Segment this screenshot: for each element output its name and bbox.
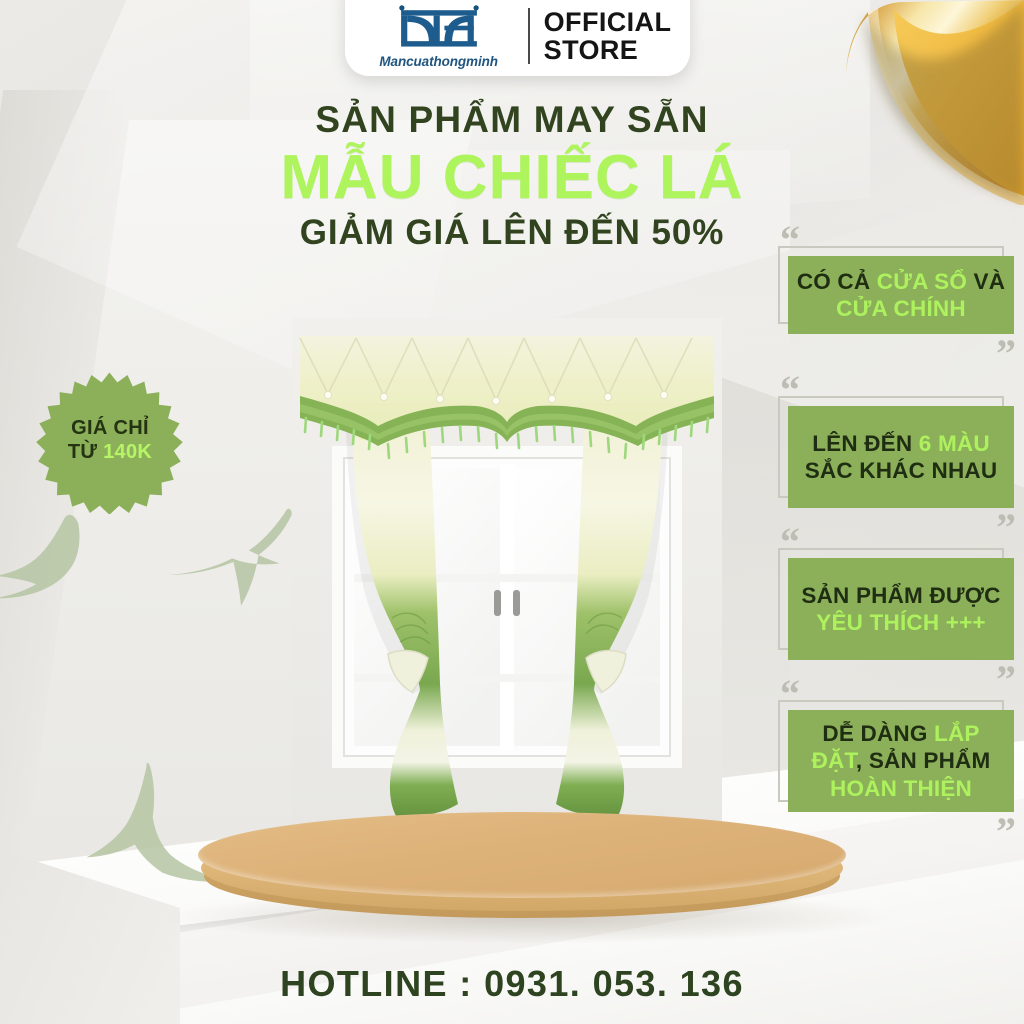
header-divider — [528, 8, 530, 64]
headline-main: MẪU CHIẾC LÁ — [0, 143, 1024, 212]
headline-group: SẢN PHẨM MAY SẴN MẪU CHIẾC LÁ GIẢM GIÁ L… — [0, 100, 1024, 253]
headline-top: SẢN PHẨM MAY SẴN — [0, 100, 1024, 141]
price-badge-line1: GIÁ CHỈ — [71, 416, 149, 440]
feature-text: CÓ CẢ CỬA SỔ VÀ CỬA CHÍNH — [794, 268, 1008, 323]
feature-fill: CÓ CẢ CỬA SỔ VÀ CỬA CHÍNH — [788, 256, 1014, 334]
feature-fill: DỄ DÀNG LẮP ĐẶT, SẢN PHẨM HOÀN THIỆN — [788, 710, 1014, 812]
feature-box-colors[interactable]: “ LÊN ĐẾN 6 MÀU SẮC KHÁC NHAU ” — [778, 396, 1014, 508]
feature-box-doors-windows[interactable]: “ CÓ CẢ CỬA SỔ VÀ CỬA CHÍNH ” — [778, 246, 1014, 334]
official-store-label: OFFICIAL STORE — [544, 8, 672, 65]
official-line: OFFICIAL — [544, 8, 672, 36]
official-store-header: Mancuathongminh OFFICIAL STORE — [345, 0, 690, 76]
quote-close-icon: ” — [996, 812, 1016, 852]
store-line: STORE — [544, 36, 672, 64]
brand-logo: Mancuathongminh — [364, 4, 514, 69]
price-badge: GIÁ CHỈ TỪ 140K — [36, 366, 184, 514]
feature-box-easy-install[interactable]: “ DỄ DÀNG LẮP ĐẶT, SẢN PHẨM HOÀN THIỆN ” — [778, 700, 1014, 812]
feature-text: DỄ DÀNG LẮP ĐẶT, SẢN PHẨM HOÀN THIỆN — [794, 720, 1008, 802]
bird-silhouette-icon — [0, 500, 154, 631]
quote-close-icon: ” — [996, 508, 1016, 548]
gold-podium — [198, 812, 848, 932]
feature-text: LÊN ĐẾN 6 MÀU SẮC KHÁC NHAU — [794, 430, 1008, 485]
price-badge-text: GIÁ CHỈ TỪ 140K — [36, 366, 184, 514]
feature-fill: LÊN ĐẾN 6 MÀU SẮC KHÁC NHAU — [788, 406, 1014, 508]
price-badge-line2: TỪ 140K — [68, 440, 152, 464]
price-badge-amount: 140K — [103, 441, 152, 463]
feature-box-loved[interactable]: “ SẢN PHẨM ĐƯỢC YÊU THÍCH +++ ” — [778, 548, 1014, 660]
quote-close-icon: ” — [996, 660, 1016, 700]
price-badge-prefix: TỪ — [68, 441, 103, 463]
curtain-product-photo — [292, 318, 722, 828]
brand-wordmark: Mancuathongminh — [379, 54, 498, 69]
feature-text: SẢN PHẨM ĐƯỢC YÊU THÍCH +++ — [794, 582, 1008, 637]
dh-monogram-logo-icon — [381, 4, 497, 52]
feature-fill: SẢN PHẨM ĐƯỢC YÊU THÍCH +++ — [788, 558, 1014, 660]
podium-top-surface — [198, 812, 846, 898]
hotline-text: HOTLINE : 0931. 053. 136 — [0, 963, 1024, 1005]
quote-close-icon: ” — [996, 334, 1016, 374]
banner-canvas: Mancuathongminh OFFICIAL STORE SẢN PHẨM … — [0, 0, 1024, 1024]
